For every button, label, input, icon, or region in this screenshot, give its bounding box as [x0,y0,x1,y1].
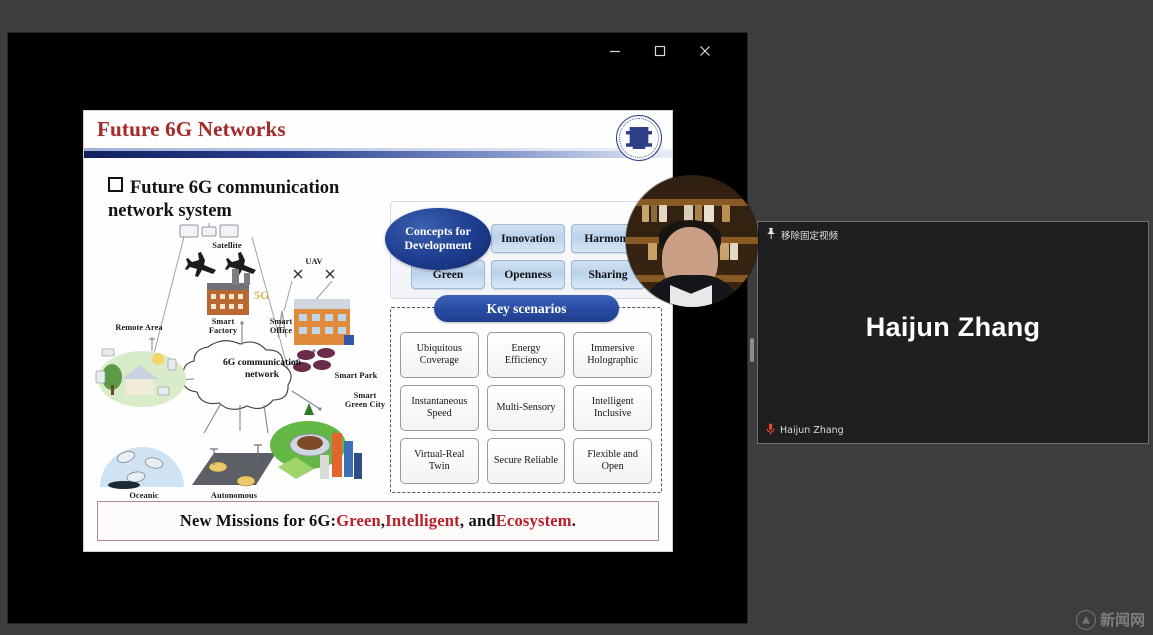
scenario-cell: Secure Reliable [487,438,566,484]
participant-video-tile[interactable]: 移除固定视频 Haijun Zhang Haijun Zhang [757,221,1149,444]
pushpin-icon [766,228,776,242]
university-emblem-icon [616,115,662,161]
scenario-cell: Virtual-Real Twin [400,438,479,484]
bullet-square-icon [108,177,123,192]
concepts-badge-line2: Development [404,239,471,253]
participant-display-name: Haijun Zhang [758,312,1148,343]
bullet-heading-text: Future 6G communication network system [108,178,339,221]
presentation-slide: Future 6G Networks Future 6G communicati… [83,110,673,552]
mission-banner: New Missions for 6G: Green, Intelligent,… [97,501,659,541]
scenario-cell: Intelligent Inclusive [573,385,652,431]
mission-sep-2: , and [460,511,496,531]
network-diagram: 5G [92,219,392,511]
scenario-cell: Instantaneous Speed [400,385,479,431]
news-emblem-icon [1076,610,1096,630]
mission-word-ecosystem: Ecosystem [496,511,572,531]
concept-chip-openness: Openness [491,260,565,289]
microphone-active-icon [766,423,775,438]
mission-prefix: New Missions for 6G: [180,511,336,531]
window-titlebar[interactable] [8,33,747,69]
unpin-video-control[interactable]: 移除固定视频 [766,228,838,242]
diagram-label-remote-area: Remote Area [108,323,170,332]
mission-suffix: . [572,511,576,531]
site-watermark: 新闻网 [1076,609,1145,630]
key-scenarios-panel: Key scenarios Ubiquitous Coverage Energy… [390,307,662,493]
watermark-text: 新闻网 [1100,609,1145,630]
key-scenarios-header: Key scenarios [434,295,619,322]
close-button[interactable] [683,33,727,69]
scenario-cell: Immersive Holographic [573,332,652,378]
diagram-label-satellite: Satellite [202,241,252,250]
scenario-cell: Flexible and Open [573,438,652,484]
scenario-cell: Multi-Sensory [487,385,566,431]
concepts-badge-line1: Concepts for [405,225,471,239]
concept-chip-innovation: Innovation [491,224,565,253]
participant-nametag: Haijun Zhang [766,423,844,438]
scenario-cell: Ubiquitous Coverage [400,332,479,378]
panel-splitter-handle[interactable] [747,336,756,364]
minimize-button[interactable] [593,33,637,69]
participant-nametag-label: Haijun Zhang [780,425,844,436]
title-divider [84,151,672,158]
slide-title: Future 6G Networks [97,117,286,142]
concepts-for-development-badge: Concepts for Development [385,208,491,270]
maximize-button[interactable] [638,33,682,69]
screen-share-window: Future 6G Networks Future 6G communicati… [8,33,747,623]
diagram-label-smart-office: Smart Office [260,317,302,336]
concepts-panel: Concepts for Development Innovation Harm… [390,201,662,299]
diagram-label-smart-park: Smart Park [330,371,382,380]
mission-word-intelligent: Intelligent [385,511,460,531]
diagram-cloud-label: 6G communication network [214,357,310,381]
mission-word-green: Green [336,511,381,531]
diagram-label-uav: UAV [297,257,331,266]
slide-bullet-heading: Future 6G communication network system [108,177,373,222]
unpin-video-label: 移除固定视频 [781,228,838,242]
screen-root: Future 6G Networks Future 6G communicati… [0,0,1153,635]
svg-text:5G: 5G [254,288,269,302]
diagram-label-smart-factory: Smart Factory [200,317,246,336]
diagram-label-smart-green-city: Smart Green City [344,391,386,410]
scenario-cell: Energy Efficiency [487,332,566,378]
presenter-webcam-bubble[interactable] [626,175,758,307]
key-scenarios-grid: Ubiquitous Coverage Energy Efficiency Im… [400,332,652,484]
